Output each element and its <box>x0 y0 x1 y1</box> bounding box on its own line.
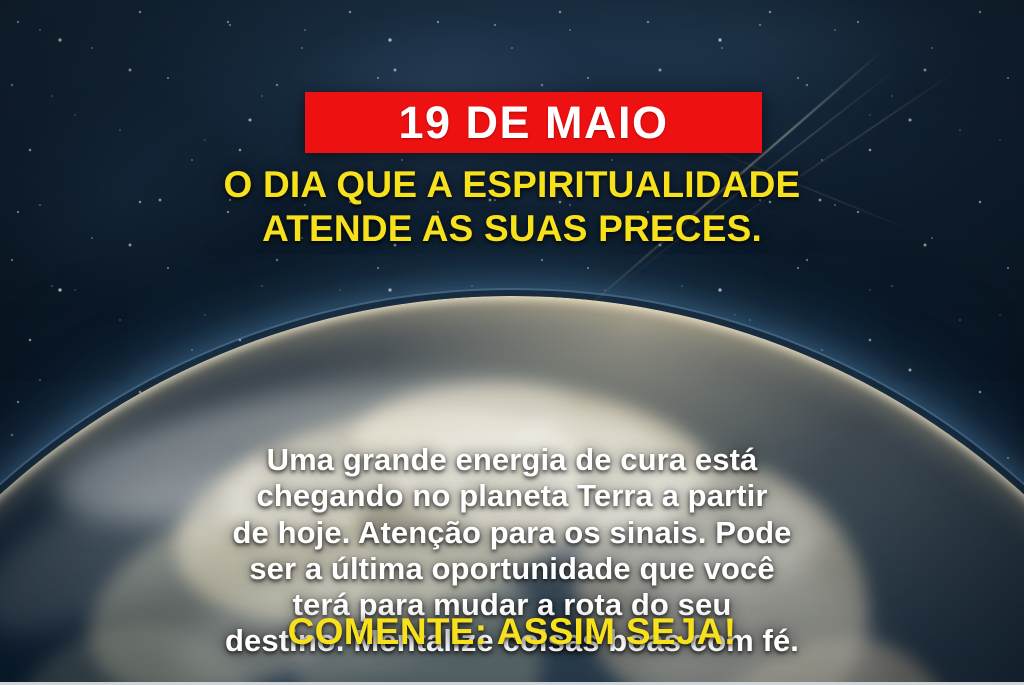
poster-canvas: 19 DE MAIO O DIA QUE A ESPIRITUALIDADE A… <box>0 0 1024 685</box>
headline-line-2: ATENDE AS SUAS PRECES. <box>0 207 1024 251</box>
content-layer: 19 DE MAIO O DIA QUE A ESPIRITUALIDADE A… <box>0 0 1024 685</box>
date-banner-label: 19 DE MAIO <box>398 100 668 145</box>
date-banner: 19 DE MAIO <box>305 92 762 153</box>
body-line-1: Uma grande energia de cura está <box>52 442 972 478</box>
body-line-4: ser a última oportunidade que você <box>52 551 972 587</box>
cta-label: COMENTE: ASSIM SEJA! <box>288 611 737 652</box>
body-line-3: de hoje. Atenção para os sinais. Pode <box>52 515 972 551</box>
call-to-action: COMENTE: ASSIM SEJA! <box>0 612 1024 653</box>
body-line-2: chegando no planeta Terra a partir <box>52 478 972 514</box>
headline-line-1: O DIA QUE A ESPIRITUALIDADE <box>0 163 1024 207</box>
headline: O DIA QUE A ESPIRITUALIDADE ATENDE AS SU… <box>0 163 1024 250</box>
